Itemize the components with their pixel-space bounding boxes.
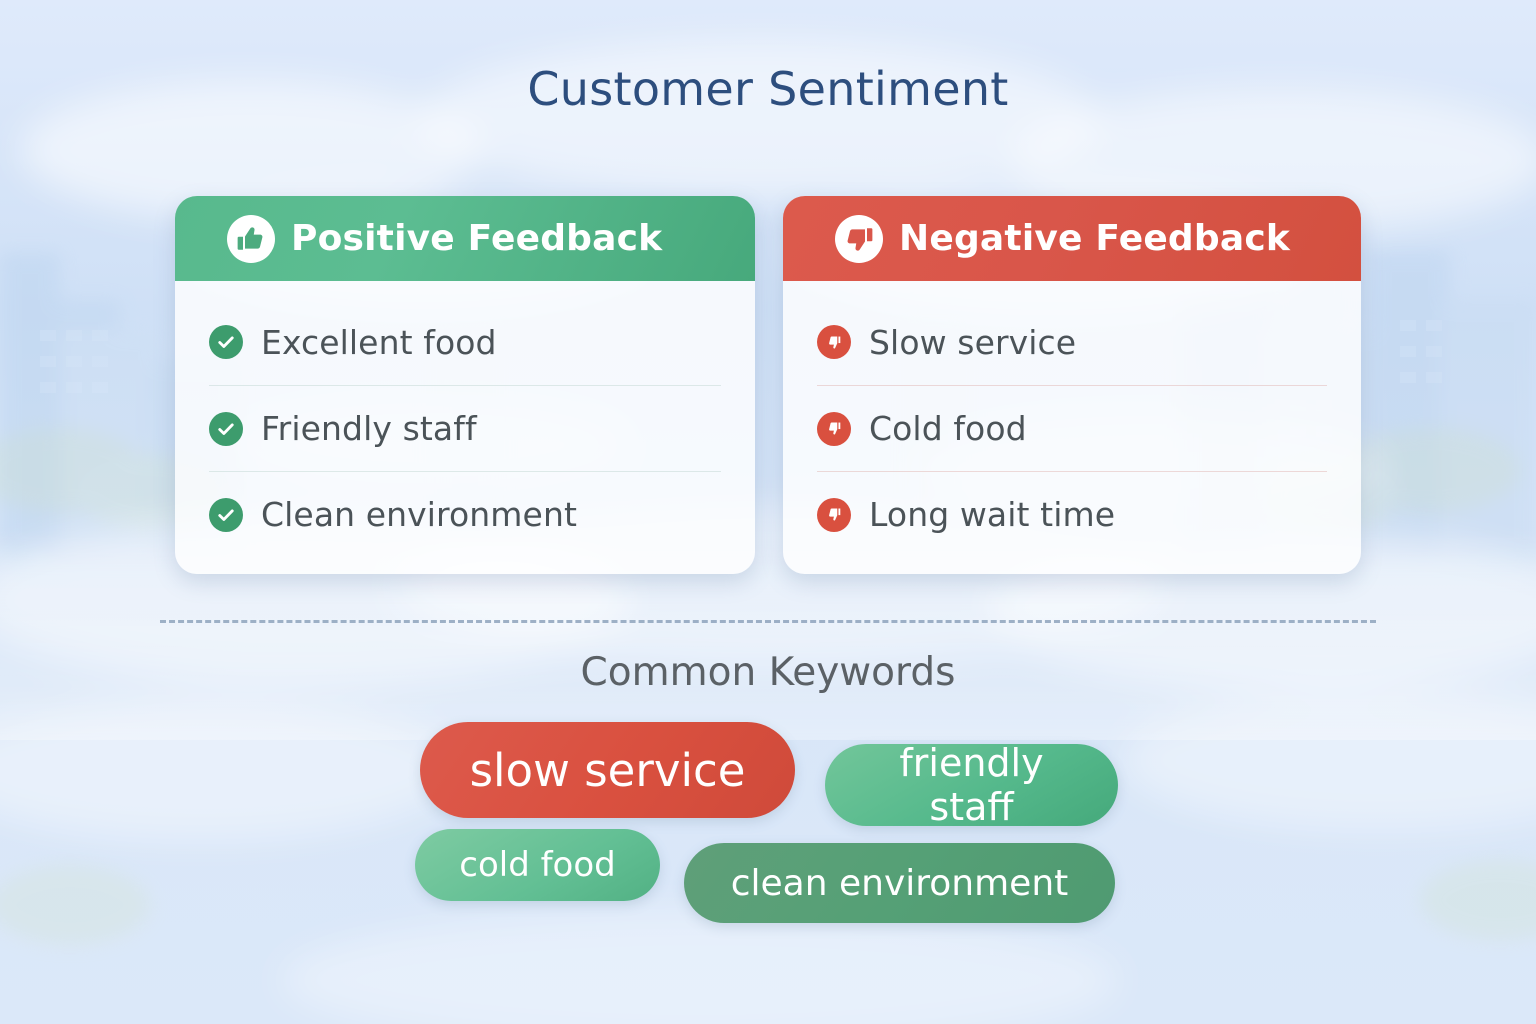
check-circle-icon [209, 325, 243, 359]
negative-card-header: Negative Feedback [783, 196, 1361, 281]
list-item[interactable]: Clean environment [209, 471, 721, 557]
keyword-pill-cold-food[interactable]: cold food [415, 829, 660, 901]
negative-card-body: Slow service Cold food Long wait time [783, 281, 1361, 567]
positive-card-body: Excellent food Friendly staff Clean envi… [175, 281, 755, 567]
positive-feedback-card: Positive Feedback Excellent food Friendl… [175, 196, 755, 574]
negative-card-title: Negative Feedback [899, 218, 1290, 259]
thumbs-up-icon [227, 215, 275, 263]
list-item-label: Long wait time [869, 495, 1115, 534]
list-item-label: Excellent food [261, 323, 497, 362]
list-item[interactable]: Cold food [817, 385, 1327, 471]
list-item-label: Cold food [869, 409, 1027, 448]
keywords-heading: Common Keywords [0, 650, 1536, 695]
check-circle-icon [209, 412, 243, 446]
thumbs-down-icon [835, 215, 883, 263]
list-item-label: Clean environment [261, 495, 577, 534]
thumbs-down-circle-icon [817, 325, 851, 359]
list-item[interactable]: Slow service [817, 299, 1327, 385]
keyword-pill-clean-environment[interactable]: clean environment [684, 843, 1115, 923]
negative-feedback-card: Negative Feedback Slow service Cold food [783, 196, 1361, 574]
check-circle-icon [209, 498, 243, 532]
keyword-pill-friendly-staff[interactable]: friendly staff [825, 744, 1118, 826]
list-item[interactable]: Excellent food [209, 299, 721, 385]
list-item[interactable]: Friendly staff [209, 385, 721, 471]
keyword-pill-slow-service[interactable]: slow service [420, 722, 795, 818]
thumbs-down-circle-icon [817, 498, 851, 532]
thumbs-down-circle-icon [817, 412, 851, 446]
list-item-label: Friendly staff [261, 409, 477, 448]
list-item-label: Slow service [869, 323, 1076, 362]
positive-card-title: Positive Feedback [291, 218, 662, 259]
positive-card-header: Positive Feedback [175, 196, 755, 281]
page-title: Customer Sentiment [0, 62, 1536, 116]
section-divider [160, 620, 1376, 623]
list-item[interactable]: Long wait time [817, 471, 1327, 557]
